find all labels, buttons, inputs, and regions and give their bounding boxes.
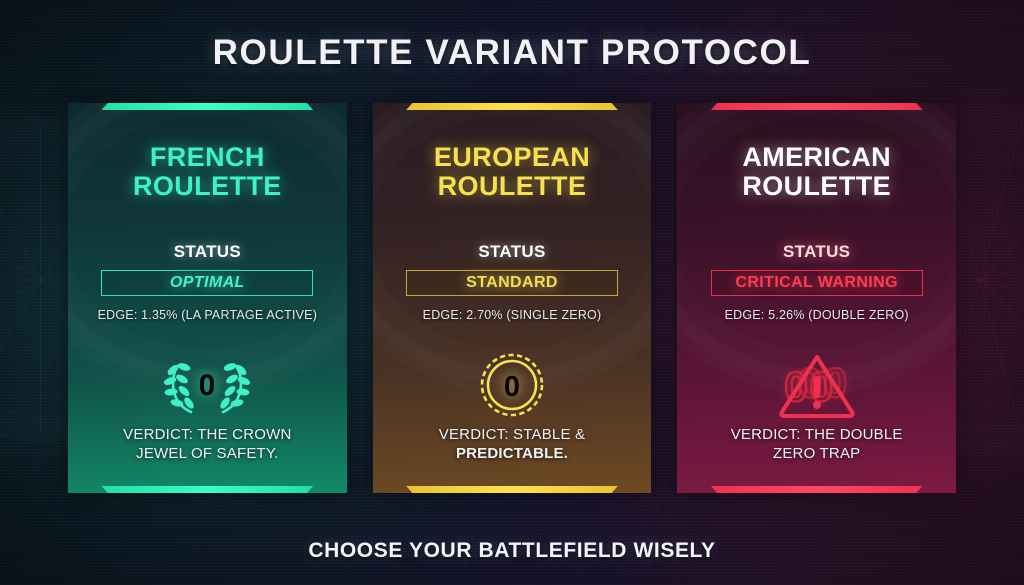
- verdict-line1: VERDICT: THE DOUBLE: [731, 426, 903, 443]
- warning-triangle-icon: [777, 350, 857, 420]
- page-footer: CHOOSE YOUR BATTLEFIELD WISELY: [0, 539, 1024, 563]
- verdict-text-european: VERDICT: STABLE & PREDICTABLE.: [395, 425, 629, 463]
- card-title-european: EUROPEAN ROULETTE: [434, 143, 590, 200]
- accent-bar-bottom: [101, 486, 313, 493]
- cog-badge-zero-icon: 0: [462, 350, 562, 420]
- card-title-french: FRENCH ROULETTE: [133, 143, 282, 200]
- card-title-line2: ROULETTE: [742, 172, 891, 201]
- variant-card-european[interactable]: EUROPEAN ROULETTE STATUS STANDARD EDGE: …: [373, 103, 652, 493]
- variant-card-french[interactable]: FRENCH ROULETTE STATUS OPTIMAL EDGE: 1.3…: [68, 103, 347, 493]
- status-label: STATUS: [783, 242, 850, 262]
- status-badge: CRITICAL WARNING: [711, 270, 923, 296]
- variant-cards-row: FRENCH ROULETTE STATUS OPTIMAL EDGE: 1.3…: [68, 103, 956, 493]
- house-edge-text: EDGE: 2.70% (SINGLE ZERO): [423, 308, 602, 322]
- status-badge: STANDARD: [406, 270, 618, 296]
- accent-bar-bottom: [406, 486, 618, 493]
- house-edge-text: EDGE: 5.26% (DOUBLE ZERO): [725, 308, 909, 322]
- verdict-line2: ZERO TRAP: [773, 445, 860, 462]
- card-title-american: AMERICAN ROULETTE: [742, 143, 891, 200]
- verdict-text-french: VERDICT: THE CROWN JEWEL OF SAFETY.: [90, 425, 324, 463]
- verdict-line1: VERDICT: STABLE &: [439, 426, 586, 443]
- card-title-line1: FRENCH: [133, 143, 282, 172]
- status-badge: OPTIMAL: [101, 270, 313, 296]
- card-title-line2: ROULETTE: [434, 172, 590, 201]
- verdict-line2: PREDICTABLE.: [456, 445, 568, 462]
- verdict-text-american: VERDICT: THE DOUBLE ZERO TRAP: [700, 425, 934, 463]
- page-title: ROULETTE VARIANT PROTOCOL: [0, 33, 1024, 73]
- accent-bar-top: [406, 103, 618, 110]
- zero-glyph: 0: [199, 369, 216, 402]
- house-edge-text: EDGE: 1.35% (LA PARTAGE ACTIVE): [98, 308, 317, 322]
- card-title-line1: AMERICAN: [742, 143, 891, 172]
- status-label: STATUS: [174, 242, 241, 262]
- accent-bar-top: [711, 103, 923, 110]
- variant-card-american[interactable]: AMERICAN ROULETTE STATUS CRITICAL WARNIN…: [677, 103, 956, 493]
- warning-triangle-double-zero-icon: 00 00: [767, 350, 867, 420]
- zero-glyph: 0: [504, 371, 520, 403]
- accent-bar-bottom: [711, 486, 923, 493]
- verdict-line1: VERDICT: THE CROWN: [123, 426, 291, 443]
- accent-bar-top: [101, 103, 313, 110]
- card-title-line1: EUROPEAN: [434, 143, 590, 172]
- laurel-wreath-zero-icon: 0: [157, 350, 257, 420]
- status-label: STATUS: [478, 242, 545, 262]
- card-title-line2: ROULETTE: [133, 172, 282, 201]
- verdict-line2: JEWEL OF SAFETY.: [136, 445, 278, 462]
